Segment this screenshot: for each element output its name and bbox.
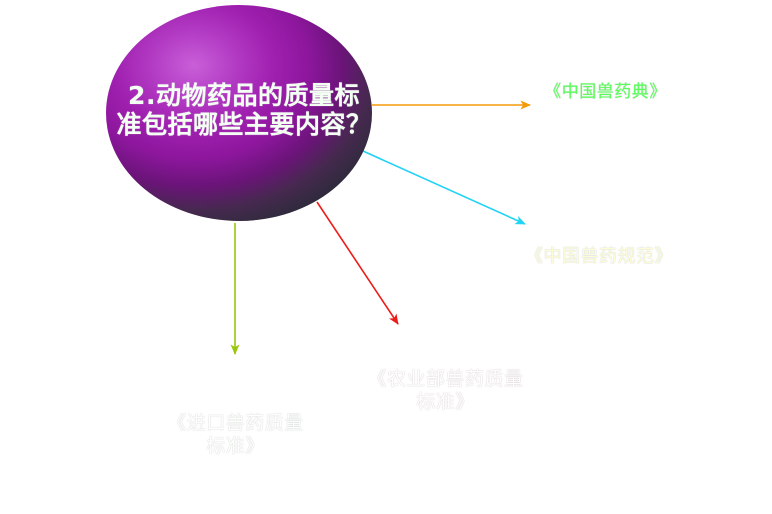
node-chinese-veterinary-drug-specification[interactable]: 《中国兽药规范》 — [525, 186, 666, 327]
node-green-label: 《进口兽药质量标准》 — [160, 412, 311, 457]
node-orange-label: 《中国兽药典》 — [544, 82, 667, 102]
node-center-question[interactable]: 2.动物药品的质量标准包括哪些主要内容？ — [106, 5, 372, 221]
node-red-label: 《农业部兽药质量标准》 — [367, 368, 524, 413]
node-blue-label: 《中国兽药规范》 — [525, 246, 666, 267]
node-chinese-veterinary-pharmacopoeia[interactable]: 《中国兽药典》 — [540, 27, 671, 158]
node-center-label: 2.动物药品的质量标准包括哪些主要内容？ — [106, 81, 372, 140]
diagram-canvas: 2.动物药品的质量标准包括哪些主要内容？ 《中国兽药典》 《中国兽药规范》 《农… — [0, 0, 772, 514]
connector-center-to-red — [317, 202, 398, 324]
node-imported-veterinary-drug-quality-standard[interactable]: 《进口兽药质量标准》 — [160, 359, 311, 510]
node-moa-veterinary-drug-quality-standard[interactable]: 《农业部兽药质量标准》 — [367, 312, 524, 469]
connector-center-to-blue — [363, 151, 525, 224]
